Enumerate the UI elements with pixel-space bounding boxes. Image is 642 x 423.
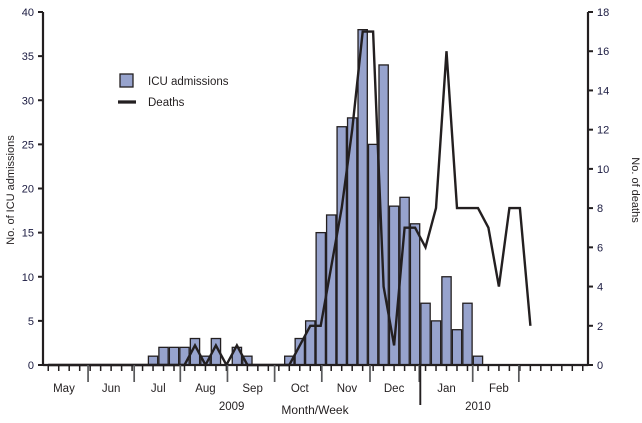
y-axis-left-title: No. of ICU admissions bbox=[5, 135, 17, 245]
x-axis-month-label: Dec bbox=[384, 383, 405, 395]
y-left-tick-label: 30 bbox=[22, 95, 34, 107]
bar bbox=[358, 30, 367, 365]
legend-swatch-icu-admissions bbox=[120, 74, 133, 87]
bar bbox=[369, 144, 378, 365]
bar bbox=[452, 330, 461, 365]
bar bbox=[159, 347, 168, 365]
y-right-tick-label: 2 bbox=[597, 321, 603, 333]
bar bbox=[473, 356, 482, 365]
bar bbox=[148, 356, 157, 365]
bar bbox=[442, 277, 451, 365]
y-right-tick-label: 6 bbox=[597, 242, 603, 254]
y-left-tick-label: 15 bbox=[22, 228, 34, 240]
y-left-tick-label: 5 bbox=[28, 316, 34, 328]
x-axis-month-label: May bbox=[53, 383, 75, 395]
bar bbox=[316, 233, 325, 365]
x-axis-month-label: Jan bbox=[437, 383, 456, 395]
x-axis-month-label: Sep bbox=[242, 383, 262, 395]
x-axis-year-label: 2009 bbox=[219, 401, 245, 413]
bar bbox=[431, 321, 440, 365]
y-right-tick-label: 8 bbox=[597, 203, 603, 215]
y-right-tick-label: 12 bbox=[597, 125, 609, 137]
x-axis-year-label: 2010 bbox=[465, 401, 491, 413]
bar bbox=[421, 303, 430, 365]
bar bbox=[410, 224, 419, 365]
y-right-tick-label: 18 bbox=[597, 7, 609, 19]
x-axis-month-label: Oct bbox=[291, 383, 310, 395]
bar bbox=[180, 347, 189, 365]
bar bbox=[463, 303, 472, 365]
y-left-tick-label: 25 bbox=[22, 139, 34, 151]
y-axis-left: 0510152025303540 bbox=[22, 7, 43, 372]
y-right-tick-label: 4 bbox=[597, 282, 603, 294]
y-left-tick-label: 40 bbox=[22, 7, 34, 19]
x-axis-month-label: Feb bbox=[489, 383, 509, 395]
bar bbox=[400, 197, 409, 365]
y-axis-right-title: No. of deaths bbox=[629, 157, 641, 223]
y-left-tick-label: 20 bbox=[22, 184, 34, 196]
legend-label-icu-admissions: ICU admissions bbox=[148, 76, 229, 88]
x-axis-month-label: Aug bbox=[195, 383, 215, 395]
bar bbox=[337, 127, 346, 365]
chart-legend: ICU admissionsDeaths bbox=[118, 74, 229, 109]
chart-root: 0510152025303540 024681012141618 MayJunJ… bbox=[0, 0, 642, 423]
x-axis-month-label: Jul bbox=[151, 383, 166, 395]
x-axis-month-label: Nov bbox=[337, 383, 358, 395]
y-left-tick-label: 35 bbox=[22, 51, 34, 63]
y-left-tick-label: 0 bbox=[28, 360, 34, 372]
legend-label-deaths: Deaths bbox=[148, 97, 185, 109]
y-right-tick-label: 10 bbox=[597, 164, 609, 176]
y-left-tick-label: 10 bbox=[22, 272, 34, 284]
y-right-tick-label: 16 bbox=[597, 46, 609, 58]
x-axis-title: Month/Week bbox=[281, 403, 349, 417]
epidemic-curve-chart: 0510152025303540 024681012141618 MayJunJ… bbox=[0, 0, 642, 423]
y-right-tick-label: 14 bbox=[597, 85, 609, 97]
bar bbox=[169, 347, 178, 365]
y-axis-right: 024681012141618 bbox=[588, 7, 609, 372]
y-right-tick-label: 0 bbox=[597, 360, 603, 372]
x-axis-month-label: Jun bbox=[102, 383, 121, 395]
